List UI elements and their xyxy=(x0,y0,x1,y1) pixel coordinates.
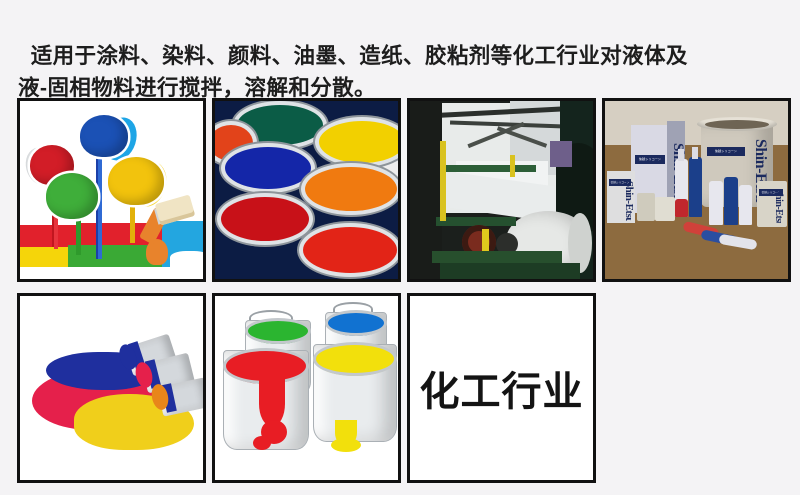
sealant-cartridge-2 xyxy=(689,157,702,217)
can-left-brand-text: Shin-Etsu xyxy=(623,181,635,221)
paint-buckets-scene xyxy=(215,296,398,480)
blue-paint-can xyxy=(80,115,128,157)
blue-paint-stream-highlight xyxy=(98,157,102,259)
headline-line-2: 液-固相物料进行搅拌，溶解和分散。 xyxy=(18,76,376,100)
product-pail-opening xyxy=(705,120,769,129)
paint-pouring-scene xyxy=(20,101,203,279)
pail-label: 信越シリコーン xyxy=(707,147,745,156)
yellow-post-2 xyxy=(510,155,515,177)
pigment-can-red xyxy=(221,197,309,241)
can-right-brand-text: Shin-Etsu xyxy=(773,189,784,223)
gallery-image-adhesive-sealant-products[interactable]: 信越シリコーン Shin-Etsu 信越シリコーン Shin-Etsu 信越シリ… xyxy=(602,98,791,282)
white-highlight xyxy=(170,251,206,267)
pigment-can-blue xyxy=(225,147,311,189)
headline-line-1: 适用于涂料、染料、颜料、油墨、造纸、胶粘剂等化工行业对液体及 xyxy=(31,44,688,68)
machine-frame-green-3 xyxy=(432,251,562,263)
headline-paragraph: 适用于涂料、染料、颜料、油墨、造纸、胶粘剂等化工行业对液体及液-固相物料进行搅拌… xyxy=(0,8,800,104)
small-tube-3 xyxy=(718,234,757,250)
gallery-image-spilled-paint-cans[interactable] xyxy=(17,293,206,483)
bucket-yellow-rim xyxy=(313,342,397,376)
industry-label-text: 化工行业 xyxy=(420,359,584,417)
product-jar-1 xyxy=(637,193,655,221)
yellow-post-1 xyxy=(440,141,446,221)
green-paint-stream xyxy=(76,213,81,255)
paper-mill-scene xyxy=(410,101,593,279)
product-jar-2 xyxy=(655,197,675,221)
sealant-tube-3 xyxy=(709,181,723,225)
pigment-can-yellow xyxy=(319,121,401,163)
pigment-cans-scene xyxy=(215,101,398,279)
yellow-paint-drip-pool xyxy=(331,438,361,452)
carton-label: 信越シリコーン xyxy=(635,155,665,164)
sealant-tube-4 xyxy=(724,177,738,225)
pigment-can-red-front xyxy=(303,227,397,273)
pigment-can-orange xyxy=(305,167,397,211)
yellow-paint-stream xyxy=(130,201,135,243)
bucket-blue-rim xyxy=(325,310,387,336)
sealant-tube-5 xyxy=(739,185,752,225)
gallery-image-paint-cans-pouring[interactable] xyxy=(17,98,206,282)
image-gallery-grid: 信越シリコーン Shin-Etsu 信越シリコーン Shin-Etsu 信越シリ… xyxy=(17,98,785,494)
red-paint-drip xyxy=(259,378,285,426)
gallery-tile-industry-label[interactable]: 化工行业 xyxy=(407,293,596,483)
gallery-row-1: 信越シリコーン Shin-Etsu 信越シリコーン Shin-Etsu 信越シリ… xyxy=(17,98,785,282)
green-paint-can xyxy=(46,173,98,219)
sealant-cartridge-nozzle-2 xyxy=(692,147,698,159)
bucket-green-rim xyxy=(245,318,311,344)
gallery-image-paper-making-machine[interactable] xyxy=(407,98,596,282)
gallery-image-four-paint-buckets[interactable] xyxy=(212,293,401,483)
yellow-paint-can xyxy=(108,157,164,205)
gallery-image-pigment-open-cans[interactable] xyxy=(212,98,401,282)
mill-purple-panel xyxy=(550,141,572,167)
sealant-cartridge-nozzle-1 xyxy=(678,149,684,161)
spilled-paint-scene xyxy=(20,296,203,480)
gallery-row-2: 化工行业 xyxy=(17,293,785,483)
machine-frame-green-4 xyxy=(440,263,580,281)
red-paint-drip-pool xyxy=(253,436,271,450)
sealant-cartridge-red-band xyxy=(675,199,688,217)
sealant-products-scene: 信越シリコーン Shin-Etsu 信越シリコーン Shin-Etsu 信越シリ… xyxy=(605,101,788,279)
machine-frame-green-1 xyxy=(440,165,536,172)
